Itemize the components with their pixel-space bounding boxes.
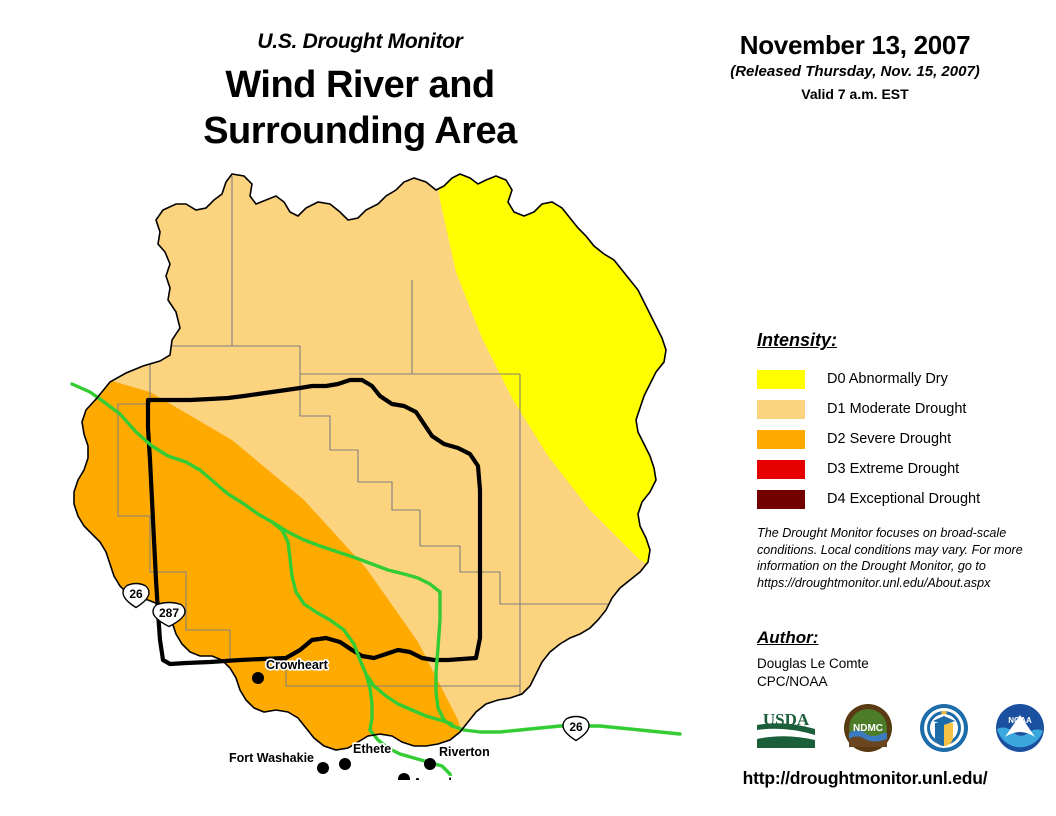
drought-map[interactable]: 2628726287 CrowheartFort WashakieEtheteR… — [0, 160, 700, 780]
city-label: Arapahoe — [413, 776, 471, 780]
program-subtitle: U.S. Drought Monitor — [160, 30, 560, 54]
legend-list: D0 Abnormally DryD1 Moderate DroughtD2 S… — [757, 364, 980, 514]
legend-label-d0: D0 Abnormally Dry — [827, 371, 948, 387]
city-label: Crowheart — [266, 658, 329, 672]
shield-route-number: 26 — [569, 720, 583, 734]
legend-swatch-d2 — [757, 430, 805, 449]
city-label: Riverton — [439, 745, 490, 759]
partner-logos: USDA NDMC — [755, 702, 1045, 758]
city-marker-dot — [398, 773, 410, 780]
drought-intensity-layer — [0, 160, 700, 780]
legend-swatch-d4 — [757, 490, 805, 509]
city-marker-dot — [252, 672, 264, 684]
page-title-line2: Surrounding Area — [120, 108, 600, 154]
shield-route-number: 26 — [129, 587, 143, 601]
city-riverton[interactable]: Riverton — [424, 745, 490, 770]
unl-seal-logo — [919, 703, 969, 758]
usda-logo: USDA — [755, 706, 817, 755]
legend-label-d3: D3 Extreme Drought — [827, 461, 959, 477]
disclaimer-text: The Drought Monitor focuses on broad-sca… — [757, 525, 1029, 592]
author-name: Douglas Le Comte — [757, 655, 869, 673]
legend-item-d1: D1 Moderate Drought — [757, 394, 980, 424]
city-label: Ethete — [353, 742, 391, 756]
legend-item-d0: D0 Abnormally Dry — [757, 364, 980, 394]
city-label: Fort Washakie — [229, 751, 314, 765]
city-arapahoe[interactable]: Arapahoe — [398, 773, 471, 780]
city-marker-dot — [424, 758, 436, 770]
legend-title: Intensity: — [757, 330, 837, 351]
legend-item-d2: D2 Severe Drought — [757, 424, 980, 454]
legend-swatch-d0 — [757, 370, 805, 389]
page-title: Wind River and Surrounding Area — [120, 62, 600, 155]
city-marker-dot — [339, 758, 351, 770]
page-title-line1: Wind River and — [120, 62, 600, 108]
highway-shield-26-0[interactable]: 26 — [123, 584, 149, 608]
author-affiliation: CPC/NOAA — [757, 673, 869, 691]
ndmc-logo: NDMC — [843, 703, 893, 758]
website-url[interactable]: http://droughtmonitor.unl.edu/ — [700, 768, 1030, 789]
city-marker-dot — [317, 762, 329, 774]
noaa-logo: NOAA — [995, 703, 1045, 758]
svg-text:NOAA: NOAA — [1008, 716, 1032, 725]
map-release-date: (Released Thursday, Nov. 15, 2007) — [700, 63, 1010, 80]
legend-label-d4: D4 Exceptional Drought — [827, 491, 980, 507]
legend-item-d4: D4 Exceptional Drought — [757, 484, 980, 514]
shield-route-number: 287 — [159, 606, 179, 620]
author-info: Douglas Le Comte CPC/NOAA — [757, 655, 869, 691]
map-valid-time: Valid 7 a.m. EST — [700, 86, 1010, 102]
legend-swatch-d1 — [757, 400, 805, 419]
drought-monitor-page: U.S. Drought Monitor Wind River and Surr… — [0, 0, 1056, 816]
city-fort-washakie[interactable]: Fort Washakie — [229, 751, 329, 774]
map-date: November 13, 2007 — [700, 30, 1010, 61]
legend-swatch-d3 — [757, 460, 805, 479]
legend-item-d3: D3 Extreme Drought — [757, 454, 980, 484]
legend-label-d1: D1 Moderate Drought — [827, 401, 966, 417]
svg-text:NDMC: NDMC — [853, 723, 883, 734]
legend-label-d2: D2 Severe Drought — [827, 431, 951, 447]
highway-shield-26-2[interactable]: 26 — [563, 717, 589, 741]
author-title: Author: — [757, 628, 818, 648]
